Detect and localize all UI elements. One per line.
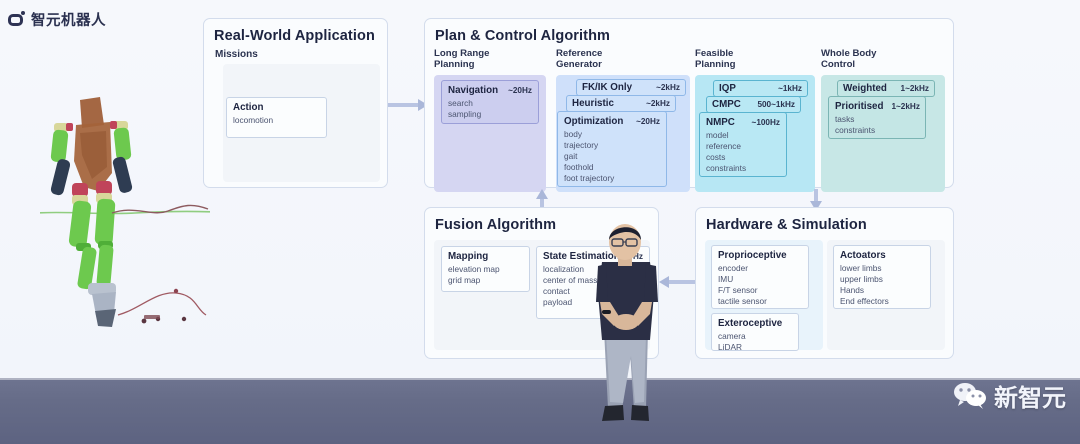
card-item: constraints [706, 163, 780, 174]
card-freq-prioritised: 1~2kHz [891, 102, 919, 111]
column-label-long-range-planning: Long Range Planning [434, 48, 489, 70]
card-items-nmpc: model reference costs constraints [706, 130, 780, 174]
card-items-actoators: lower limbs upper limbs Hands End effect… [840, 263, 924, 307]
card-fkik-only[interactable]: FK/IK Only ~2kHz [576, 79, 686, 96]
card-items-navigation: search sampling [448, 98, 532, 120]
stage-scene: 智元机器人 Real-World Application Missions Ac… [0, 0, 1080, 444]
wechat-icon [953, 382, 987, 410]
column-label-whole-body-control: Whole Body Control [821, 48, 876, 70]
label-line: Planning [434, 59, 489, 70]
watermark: 新智元 [953, 378, 1066, 413]
card-title-navigation: Navigation [448, 85, 498, 96]
panel-title-real-world-application: Real-World Application [214, 28, 375, 44]
panel-title-plan-control-algorithm: Plan & Control Algorithm [435, 28, 610, 44]
card-item: Hands [840, 285, 924, 296]
brand-name: 智元机器人 [31, 9, 106, 30]
card-title-proprioceptive: Proprioceptive [718, 250, 787, 261]
card-items-exteroceptive: camera LiDAR [718, 331, 792, 353]
card-action[interactable]: Action locomotion [226, 97, 327, 138]
card-item: locomotion [233, 115, 320, 126]
card-item: body [564, 129, 660, 140]
card-mapping[interactable]: Mapping elevation map grid map [441, 246, 530, 292]
panel-title-hardware-simulation: Hardware & Simulation [706, 217, 867, 233]
label-line: Reference [556, 48, 602, 59]
card-optimization[interactable]: Optimization ~20Hz body trajectory gait … [557, 111, 667, 187]
card-nmpc[interactable]: NMPC ~100Hz model reference costs constr… [699, 112, 787, 177]
card-item: gait [564, 151, 660, 162]
card-item: sampling [448, 109, 532, 120]
card-item: model [706, 130, 780, 141]
presenter-person [578, 222, 674, 444]
column-label-feasible-planning: Feasible Planning [695, 48, 736, 70]
card-item: reference [706, 141, 780, 152]
panel-hardware-simulation[interactable]: Hardware & Simulation Proprioceptive enc… [695, 207, 954, 359]
card-items-action: locomotion [233, 115, 320, 126]
card-item: costs [706, 152, 780, 163]
stage-floor [0, 378, 1080, 444]
card-item: foot trajectory [564, 173, 660, 184]
card-iqp[interactable]: IQP ~1kHz [713, 80, 808, 97]
agibot-logo-icon [8, 11, 25, 28]
card-title-fkik-only: FK/IK Only [582, 82, 632, 93]
card-item: constraints [835, 125, 919, 136]
card-item: End effectors [840, 296, 924, 307]
card-title-prioritised: Prioritised [835, 101, 883, 112]
card-item: F/T sensor [718, 285, 802, 296]
card-freq-fkik-only: ~2kHz [656, 83, 680, 92]
column-label-reference-generator: Reference Generator [556, 48, 602, 70]
card-item: camera [718, 331, 792, 342]
card-item: encoder [718, 263, 802, 274]
card-item: elevation map [448, 264, 523, 275]
card-freq-optimization: ~20Hz [636, 117, 660, 126]
card-weighted[interactable]: Weighted 1~2kHz [837, 80, 935, 97]
card-freq-navigation: ~20Hz [508, 86, 532, 95]
card-proprioceptive[interactable]: Proprioceptive encoder IMU F/T sensor ta… [711, 245, 809, 309]
card-item: upper limbs [840, 274, 924, 285]
panel-plan-control-algorithm[interactable]: Plan & Control Algorithm Long Range Plan… [424, 18, 954, 188]
card-title-mapping: Mapping [448, 251, 488, 262]
card-item: search [448, 98, 532, 109]
panel-title-fusion-algorithm: Fusion Algorithm [435, 217, 556, 233]
card-item: LiDAR [718, 342, 792, 353]
label-line: Planning [695, 59, 736, 70]
card-title-actoators: Actoators [840, 250, 886, 261]
card-items-optimization: body trajectory gait foothold foot traje… [564, 129, 660, 184]
card-item: grid map [448, 275, 523, 286]
card-heuristic[interactable]: Heuristic ~2kHz [566, 95, 676, 112]
card-item: foothold [564, 162, 660, 173]
section-label-missions: Missions [215, 49, 258, 60]
card-item: lower limbs [840, 263, 924, 274]
card-items-proprioceptive: encoder IMU F/T sensor tactile sensor [718, 263, 802, 307]
card-freq-iqp: ~1kHz [778, 84, 802, 93]
card-items-prioritised: tasks constraints [835, 114, 919, 136]
card-freq-heuristic: ~2kHz [646, 99, 670, 108]
watermark-text: 新智元 [994, 378, 1066, 413]
card-navigation[interactable]: Navigation ~20Hz search sampling [441, 80, 539, 124]
label-line: Long Range [434, 48, 489, 59]
presentation-slide: 智元机器人 Real-World Application Missions Ac… [0, 0, 1080, 380]
card-exteroceptive[interactable]: Exteroceptive camera LiDAR [711, 313, 799, 351]
card-title-weighted: Weighted [843, 83, 887, 94]
card-prioritised[interactable]: Prioritised 1~2kHz tasks constraints [828, 96, 926, 139]
card-items-mapping: elevation map grid map [448, 264, 523, 286]
card-item: trajectory [564, 140, 660, 151]
brand-logo: 智元机器人 [8, 9, 106, 30]
label-line: Generator [556, 59, 602, 70]
card-title-heuristic: Heuristic [572, 98, 614, 109]
panel-real-world-application[interactable]: Real-World Application Missions Action l… [203, 18, 388, 188]
humanoid-robot-figure [40, 95, 210, 345]
label-line: Feasible [695, 48, 736, 59]
label-line: Whole Body [821, 48, 876, 59]
card-title-nmpc: NMPC [706, 117, 735, 128]
card-title-optimization: Optimization [564, 116, 623, 127]
card-item: tactile sensor [718, 296, 802, 307]
arrow-app-to-plan [388, 99, 428, 111]
label-line: Control [821, 59, 876, 70]
card-item: tasks [835, 114, 919, 125]
card-item: IMU [718, 274, 802, 285]
card-freq-nmpc: ~100Hz [752, 118, 780, 127]
card-freq-cmpc: 500~1kHz [757, 100, 795, 109]
card-title-exteroceptive: Exteroceptive [718, 318, 782, 329]
card-actoators[interactable]: Actoators lower limbs upper limbs Hands … [833, 245, 931, 309]
card-title-iqp: IQP [719, 83, 736, 94]
card-title-action: Action [233, 102, 263, 113]
card-cmpc[interactable]: CMPC 500~1kHz [706, 96, 801, 113]
card-freq-weighted: 1~2kHz [901, 84, 929, 93]
card-title-cmpc: CMPC [712, 99, 741, 110]
